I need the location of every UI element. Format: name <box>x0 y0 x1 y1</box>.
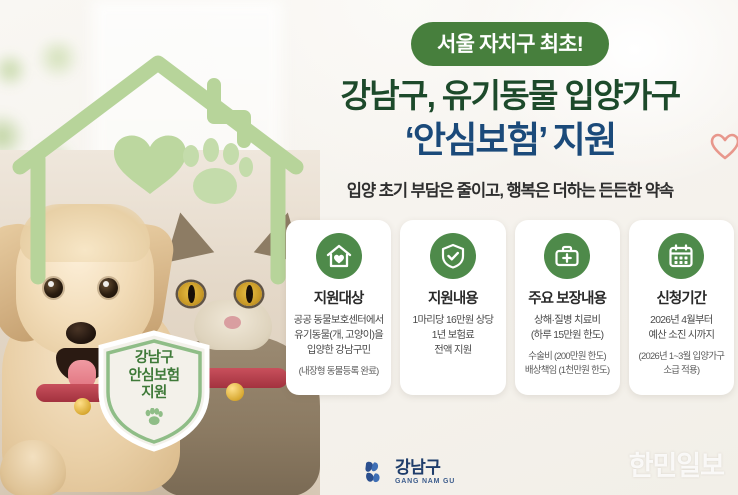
card-note: (내장형 동물등록 완료) <box>299 364 379 378</box>
card-application-period: 신청기간 2026년 4월부터 예산 소진 시까지 (2026년 1~3월 입양… <box>629 220 734 395</box>
badge-row: 서울 자치구 최초! <box>282 22 738 66</box>
dog-eye-right <box>99 278 118 298</box>
card-extra: 수술비 (200만원 한도) <box>528 349 606 363</box>
dog-fringe <box>20 204 150 262</box>
shield-badge-line1: 강남구 <box>135 350 173 367</box>
calendar-icon <box>658 233 704 279</box>
card-line: 2026년 4월부터 <box>650 314 712 329</box>
card-support-content: 지원내용 1마리당 16만원 상당 1년 보험료 전액 지원 <box>400 220 505 395</box>
card-line: 예산 소진 시까지 <box>649 329 715 344</box>
house-heart-icon <box>316 233 362 279</box>
card-line: 상해·질병 치료비 <box>534 314 600 329</box>
card-line: 전액 지원 <box>434 344 471 359</box>
card-extra: (2026년 1~3월 입양가구 <box>639 349 725 363</box>
publisher-watermark: 한민일보 <box>629 444 724 483</box>
gangnam-gu-logo: 강남구 GANG NAM GU <box>363 459 455 485</box>
first-in-seoul-badge: 서울 자치구 최초! <box>411 22 609 66</box>
card-title: 주요 보장내용 <box>528 287 606 308</box>
card-support-target: 지원대상 공공 동물보호센터에서 유기동물(개, 고양이)을 입양한 강남구민 … <box>286 220 391 395</box>
cat-eye-right <box>236 282 262 306</box>
content-column: 서울 자치구 최초! 강남구, 유기동물 입양가구 ‘안심보험’ 지원 입양 초… <box>282 0 738 495</box>
first-aid-kit-icon <box>544 233 590 279</box>
card-line: 1년 보험료 <box>432 329 474 344</box>
headline-block: 강남구, 유기동물 입양가구 ‘안심보험’ 지원 <box>282 77 738 161</box>
heart-outline-icon <box>710 133 738 160</box>
shield-badge-line3: 지원 <box>141 385 166 402</box>
info-cards: 지원대상 공공 동물보호센터에서 유기동물(개, 고양이)을 입양한 강남구민 … <box>282 220 738 395</box>
cat-collar-tag <box>226 383 244 401</box>
shield-badge: 강남구 안심보험 지원 <box>95 330 213 452</box>
card-line: 공공 동물보호센터에서 <box>294 314 384 329</box>
logo-korean-name: 강남구 <box>395 459 455 476</box>
dog-nose <box>66 322 96 344</box>
card-line: 1마리당 16만원 상당 <box>412 314 493 329</box>
card-title: 지원내용 <box>428 287 478 308</box>
dog-eye-left <box>44 278 63 298</box>
card-title: 지원대상 <box>314 287 364 308</box>
logo-text: 강남구 GANG NAM GU <box>395 459 455 485</box>
promo-banner: 강남구 안심보험 지원 서울 자치구 최초! 강남구, 유기동물 입양가구 ‘안… <box>0 0 738 495</box>
dog-collar-tag <box>74 398 91 415</box>
headline-line-1: 강남구, 유기동물 입양가구 <box>282 77 738 116</box>
headline-line-2: ‘안심보험’ 지원 <box>405 119 616 160</box>
card-coverage: 주요 보장내용 상해·질병 치료비 (하루 15만원 한도) 수술비 (200만… <box>515 220 620 395</box>
card-line: (하루 15만원 한도) <box>531 329 603 344</box>
paw-print-icon <box>144 408 164 426</box>
card-extra: 소급 적용) <box>663 363 699 377</box>
subheadline: 입양 초기 부담은 줄이고, 행복은 더하는 든든한 약속 <box>282 177 738 201</box>
card-title: 신청기간 <box>656 287 706 308</box>
gangnam-gu-emblem-icon <box>363 460 389 484</box>
card-extra: 배상책임 (1천만원 한도) <box>525 363 610 377</box>
shield-badge-line2: 안심보험 <box>129 368 180 385</box>
headline-line-2-wrap: ‘안심보험’ 지원 <box>282 118 738 161</box>
cat-nose <box>224 316 241 329</box>
card-line: 입양한 강남구민 <box>307 344 371 359</box>
logo-english-name: GANG NAM GU <box>395 478 455 485</box>
shield-check-icon <box>430 233 476 279</box>
dog-paw <box>0 440 66 495</box>
card-line: 유기동물(개, 고양이)을 <box>294 329 383 344</box>
